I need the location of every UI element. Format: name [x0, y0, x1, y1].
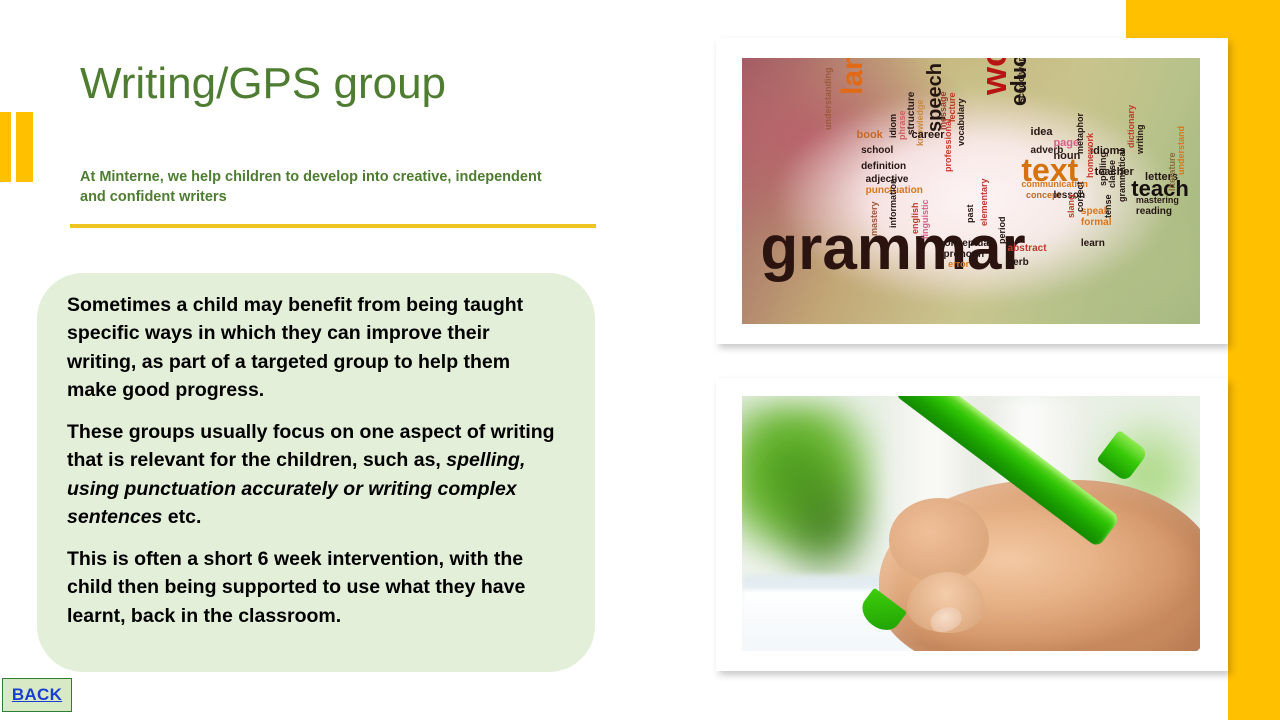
accent-bar-right [1228, 0, 1280, 720]
back-button-label: BACK [12, 685, 62, 705]
word-cloud-word: pronoun [944, 250, 985, 260]
word-cloud-word: vocabulary [957, 98, 966, 146]
word-cloud-word: reading [1136, 207, 1172, 217]
word-cloud-word: grammatical [1118, 149, 1127, 202]
body-paragraph-1: Sometimes a child may benefit from being… [67, 291, 563, 404]
word-cloud-word: information [889, 179, 898, 229]
word-cloud-word: error [948, 260, 969, 269]
hand-writing-image [742, 396, 1200, 651]
accent-bar-left-thin [0, 112, 11, 182]
word-cloud-word: book [857, 130, 883, 141]
word-cloud-word: correct [1076, 182, 1085, 213]
body-paragraph-2-tail: etc. [162, 506, 201, 528]
word-cloud-word: writing [1136, 124, 1145, 154]
image-frame-word-cloud: grammarlanguagewordtexteducationspeechte… [716, 38, 1228, 344]
accent-bar-left-thick [16, 112, 33, 182]
word-cloud-word: definition [861, 162, 906, 172]
word-cloud-word: homework [1086, 133, 1095, 178]
word-cloud-word: schoolwork [1017, 58, 1026, 103]
word-cloud-word: past [966, 204, 975, 223]
word-cloud-word: metaphor [1076, 113, 1085, 154]
image-frame-hand-writing [716, 378, 1228, 671]
word-cloud-word: career [911, 130, 944, 141]
word-cloud-word: school [861, 146, 893, 156]
word-cloud-word: linguistic [921, 199, 930, 239]
word-cloud-image: grammarlanguagewordtexteducationspeechte… [742, 58, 1200, 324]
word-cloud-word: formal [1081, 218, 1112, 228]
word-cloud-word: language [838, 58, 868, 95]
hand-knuckle [889, 498, 990, 582]
hand-writing-scene [742, 396, 1200, 651]
body-paragraph-3: This is often a short 6 week interventio… [67, 545, 563, 630]
word-cloud-word-list: grammarlanguagewordtexteducationspeechte… [742, 58, 1200, 324]
back-button[interactable]: BACK [2, 678, 72, 712]
word-cloud-word: conceptual [939, 239, 992, 249]
page-subtitle: At Minterne, we help children to develop… [80, 168, 550, 207]
word-cloud-word: period [998, 217, 1007, 245]
word-cloud-word: understanding [824, 67, 833, 130]
word-cloud-word: tense [1104, 194, 1113, 218]
word-cloud-word: abstract [1008, 244, 1047, 254]
page-title: Writing/GPS group [80, 60, 680, 108]
word-cloud-word: mastery [870, 202, 879, 237]
background-foliage-b [769, 457, 879, 590]
word-cloud-word: verb [1008, 258, 1029, 268]
word-cloud-word: learn [1081, 239, 1105, 249]
word-cloud-word: idea [1031, 127, 1053, 138]
word-cloud-word: elementary [980, 178, 989, 226]
word-cloud-word: mastering [1136, 196, 1179, 205]
word-cloud-word: understand [1177, 126, 1186, 175]
body-text-panel: Sometimes a child may benefit from being… [37, 273, 595, 672]
title-divider [70, 224, 596, 228]
body-paragraph-2: These groups usually focus on one aspect… [67, 418, 563, 531]
word-cloud-word: professional [944, 119, 953, 173]
slide-canvas: Writing/GPS group At Minterne, we help c… [0, 0, 1280, 720]
